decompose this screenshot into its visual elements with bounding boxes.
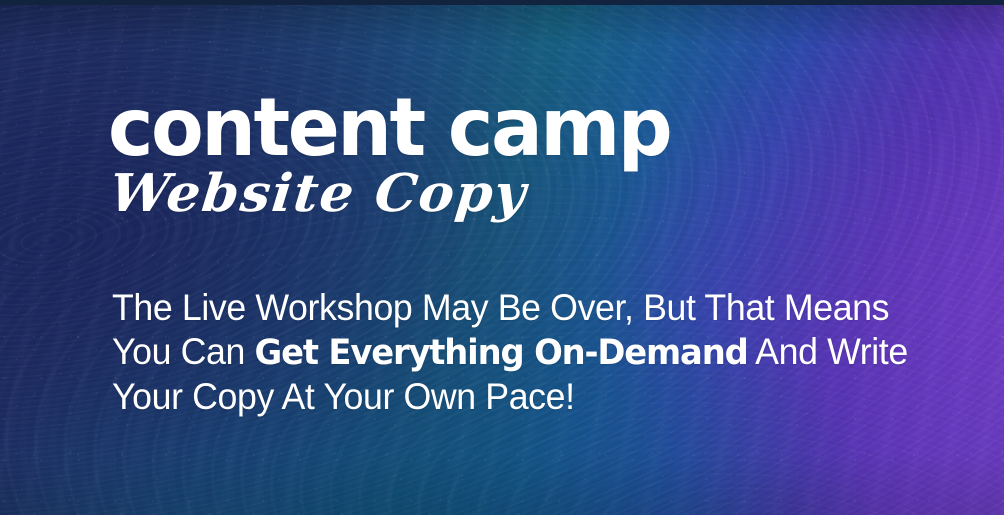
banner-subheading: The Live Workshop May Be Over, But That … [112, 286, 961, 419]
subheading-emphasis: Get Everything On-Demand [255, 333, 748, 373]
banner-content: content camp Website Copy The Live Works… [0, 0, 1004, 515]
subheading-line-2: You Can Get Everything On-Demand And Wri… [112, 330, 961, 376]
banner-title: content camp [108, 90, 670, 167]
hero-banner: content camp Website Copy The Live Works… [0, 0, 1004, 515]
subheading-line-2-suffix: And Write [748, 331, 908, 372]
banner-script-subtitle: Website Copy [107, 168, 529, 220]
subheading-line-2-prefix: You Can [112, 331, 255, 372]
subheading-line-3: Your Copy At Your Own Pace! [112, 375, 961, 419]
subheading-line-1: The Live Workshop May Be Over, But That … [112, 286, 961, 330]
